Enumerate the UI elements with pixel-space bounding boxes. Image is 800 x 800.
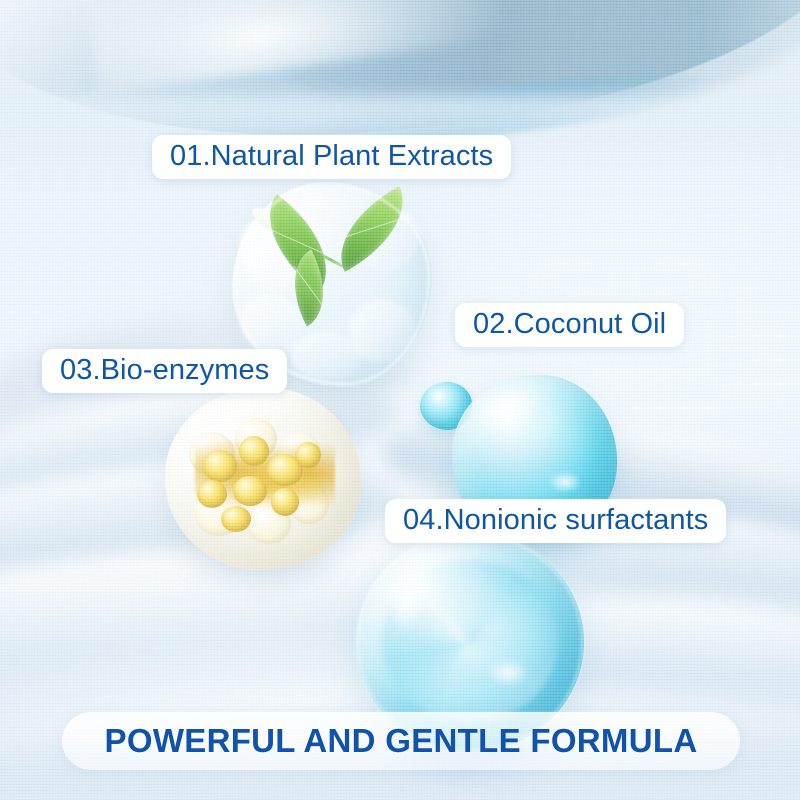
ingredient-label-03: 03.Bio-enzymes — [42, 349, 287, 393]
sphere-highlight — [548, 471, 582, 493]
amber-bead — [233, 476, 267, 506]
headline-banner: POWERFUL AND GENTLE FORMULA — [62, 712, 740, 770]
amber-bead — [239, 436, 269, 466]
ingredient-label-text: 04.Nonionic surfactants — [403, 505, 708, 535]
ingredient-label-02: 02.Coconut Oil — [455, 303, 684, 347]
amber-bead — [197, 480, 227, 508]
ingredient-label-04: 04.Nonionic surfactants — [385, 499, 726, 543]
ingredient-label-01: 01.Natural Plant Extracts — [152, 135, 511, 179]
amber-bead — [271, 488, 299, 516]
ingredient-label-text: 01.Natural Plant Extracts — [170, 141, 493, 171]
amber-bead — [203, 450, 237, 482]
headline-text: POWERFUL AND GENTLE FORMULA — [105, 722, 698, 760]
ingredient-visual-bio-enzymes — [165, 388, 361, 570]
amber-bead — [295, 442, 321, 468]
ingredient-label-text: 02.Coconut Oil — [473, 309, 666, 339]
ingredient-label-text: 03.Bio-enzymes — [60, 355, 269, 385]
amber-bead — [221, 506, 251, 532]
product-ingredient-poster: 01.Natural Plant Extracts 02.Coconut Oil… — [0, 0, 800, 800]
